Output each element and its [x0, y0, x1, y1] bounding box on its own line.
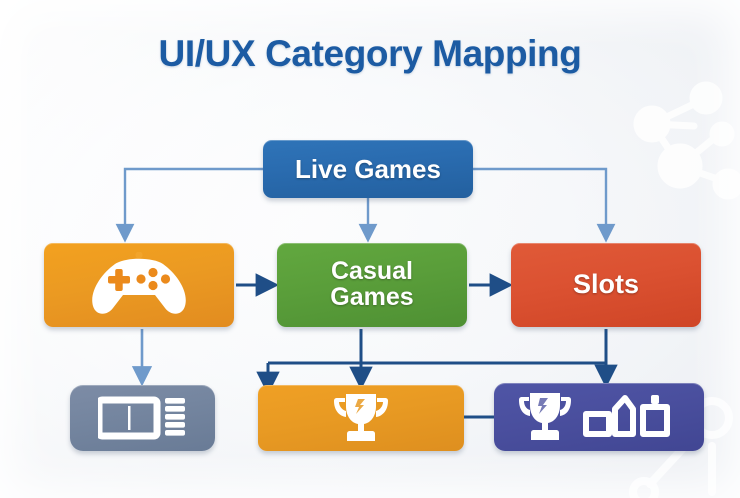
node-slots-label: Slots [573, 271, 639, 299]
trophy-chart-icon [519, 389, 679, 445]
page-title: UI/UX Category Mapping [0, 33, 740, 75]
node-slots[interactable]: Slots [511, 243, 701, 327]
node-panels[interactable] [70, 385, 215, 451]
edge-live-games-to-arcade [125, 169, 263, 233]
node-rewards[interactable] [494, 383, 704, 451]
node-casual-games-label: Casual Games [330, 259, 413, 311]
edge-live-games-to-slots [473, 169, 606, 233]
decorative-network-graphic [594, 78, 740, 228]
trophy-icon [334, 391, 388, 445]
gamepad-icon [85, 252, 193, 318]
diagram-canvas: UI/UX Category Mapping [0, 0, 740, 498]
node-live-games-label: Live Games [295, 156, 441, 183]
node-tournaments[interactable] [258, 385, 464, 451]
node-casual-games[interactable]: Casual Games [277, 243, 467, 327]
layout-panels-icon [98, 396, 188, 440]
node-live-games[interactable]: Live Games [263, 140, 473, 198]
node-arcade[interactable] [44, 243, 234, 327]
